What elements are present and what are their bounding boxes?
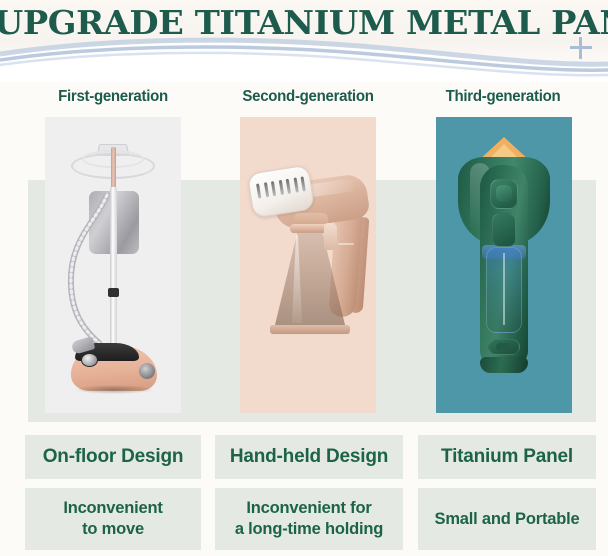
product-image-first-generation [45, 117, 181, 413]
grip-highlight [338, 243, 354, 245]
product-shadow [75, 385, 153, 394]
design-label-third-generation: Titanium Panel [418, 435, 596, 479]
steam-vent [271, 181, 276, 196]
design-label-second-generation: Hand-held Design [215, 435, 403, 479]
steam-vent [278, 180, 283, 195]
column-header-third-generation: Third-generation [408, 88, 598, 106]
page-title: UPGRADE TITANIUM METAL PANEL [0, 4, 608, 42]
steam-button [492, 213, 516, 247]
water-tank-stem [503, 253, 505, 325]
drawback-line-1: Inconvenient for [246, 499, 371, 517]
pole-top [111, 147, 116, 189]
plus-icon [570, 37, 592, 59]
bottom-button-inner [496, 343, 512, 351]
drawback-line-2: a long-time holding [235, 520, 383, 538]
drawback-label-first-generation: Inconvenient to move [25, 488, 201, 550]
column-header-second-generation: Second-generation [213, 88, 403, 106]
column-header-first-generation: First-generation [18, 88, 208, 106]
control-knob [81, 353, 98, 367]
steam-trigger [324, 223, 337, 250]
steam-vent [293, 178, 298, 193]
drawback-text: Inconvenient for a long-time holding [235, 498, 383, 540]
steam-hose [59, 193, 129, 358]
drawback-line-1: Inconvenient [63, 499, 162, 517]
design-label-first-generation: On-floor Design [25, 435, 201, 479]
drawback-label-second-generation: Inconvenient for a long-time holding [215, 488, 403, 550]
steam-vent [263, 182, 268, 197]
benefit-text: Small and Portable [435, 509, 580, 530]
drawback-text: Inconvenient to move [63, 498, 162, 540]
infographic-root: UPGRADE TITANIUM METAL PANEL First-gener… [0, 0, 608, 556]
column-title: Second-generation [216, 88, 400, 106]
column-title: First-generation [21, 88, 205, 106]
caster-wheel [139, 363, 155, 379]
benefit-label-third-generation: Small and Portable [418, 488, 596, 550]
tank-base [270, 325, 350, 334]
power-button-inner [496, 185, 512, 202]
drawback-line-2: to move [82, 520, 144, 538]
steam-vent [286, 179, 291, 194]
product-image-second-generation [240, 117, 376, 413]
base-cap [480, 357, 528, 373]
product-image-third-generation [436, 117, 572, 413]
column-title: Third-generation [411, 88, 595, 106]
